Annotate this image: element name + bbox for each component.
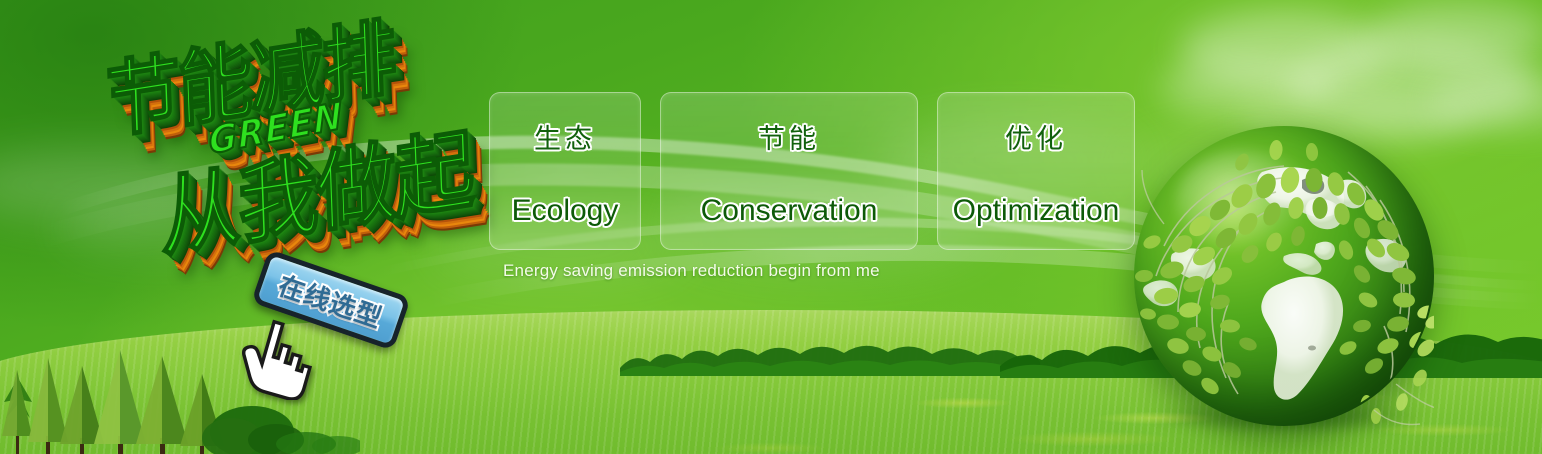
banner-subtitle: Energy saving emission reduction begin f… <box>503 261 880 281</box>
green-energy-banner: 节能减排 GREEN 从我做起 在线选型 生态 Ecology 节能 Conse… <box>0 0 1542 454</box>
leaf-globe <box>1134 126 1434 426</box>
feature-card-group: 生态 Ecology 节能 Conservation 优化 Optimizati… <box>489 92 1135 250</box>
card-conservation[interactable]: 节能 Conservation <box>660 92 918 250</box>
card-ecology-en: Ecology <box>512 194 619 228</box>
card-ecology[interactable]: 生态 Ecology <box>489 92 641 250</box>
globe-continents-and-leaves <box>1134 126 1434 426</box>
card-conservation-en: Conservation <box>701 194 878 228</box>
card-ecology-cn: 生态 <box>534 117 596 156</box>
card-optimization-en: Optimization <box>953 194 1120 228</box>
card-optimization-cn: 优化 <box>1005 117 1067 156</box>
card-optimization[interactable]: 优化 Optimization <box>937 92 1135 250</box>
card-conservation-cn: 节能 <box>758 117 820 156</box>
